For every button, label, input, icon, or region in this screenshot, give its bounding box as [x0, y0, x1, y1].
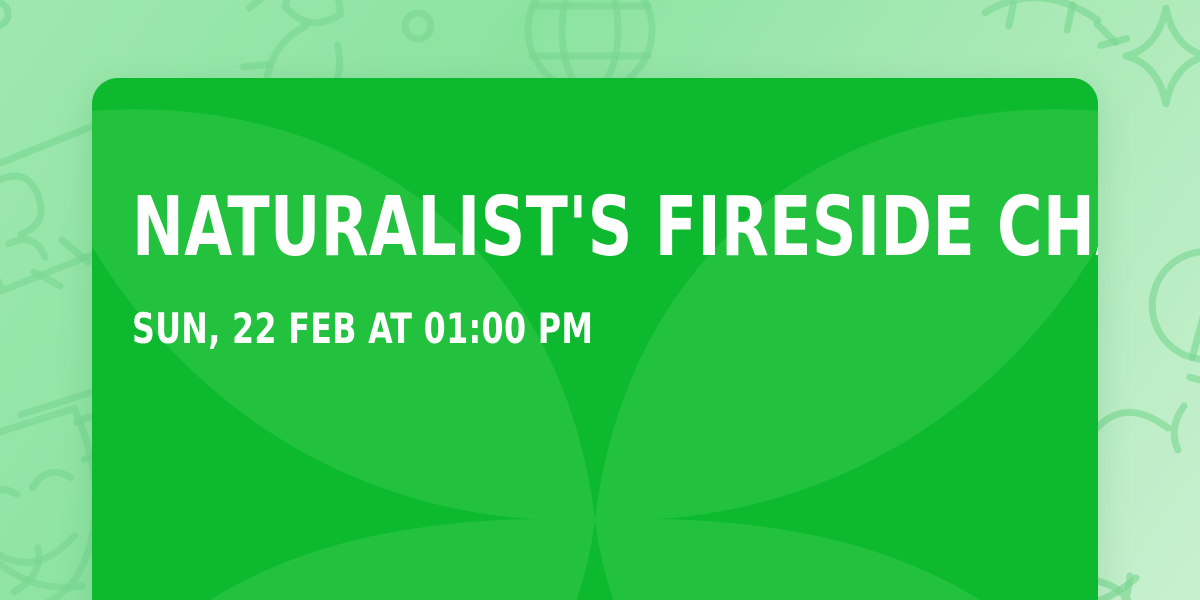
circle-dot-icon	[0, 2, 431, 39]
swirl-icon	[0, 548, 82, 592]
event-datetime: SUN, 22 FEB AT 01:00 PM	[132, 311, 910, 347]
event-title: NATURALIST'S FIRESIDE CHAT	[132, 194, 910, 263]
event-banner: NATURALIST'S FIRESIDE CHAT SUN, 22 FEB A…	[0, 0, 1200, 600]
sparkle-icon	[1126, 8, 1200, 104]
microphone-icon	[1132, 221, 1200, 407]
card-content: NATURALIST'S FIRESIDE CHAT SUN, 22 FEB A…	[132, 194, 1058, 347]
leaf-icon	[34, 240, 88, 286]
event-card[interactable]: NATURALIST'S FIRESIDE CHAT SUN, 22 FEB A…	[92, 78, 1098, 600]
easel-icon	[983, 0, 1131, 50]
